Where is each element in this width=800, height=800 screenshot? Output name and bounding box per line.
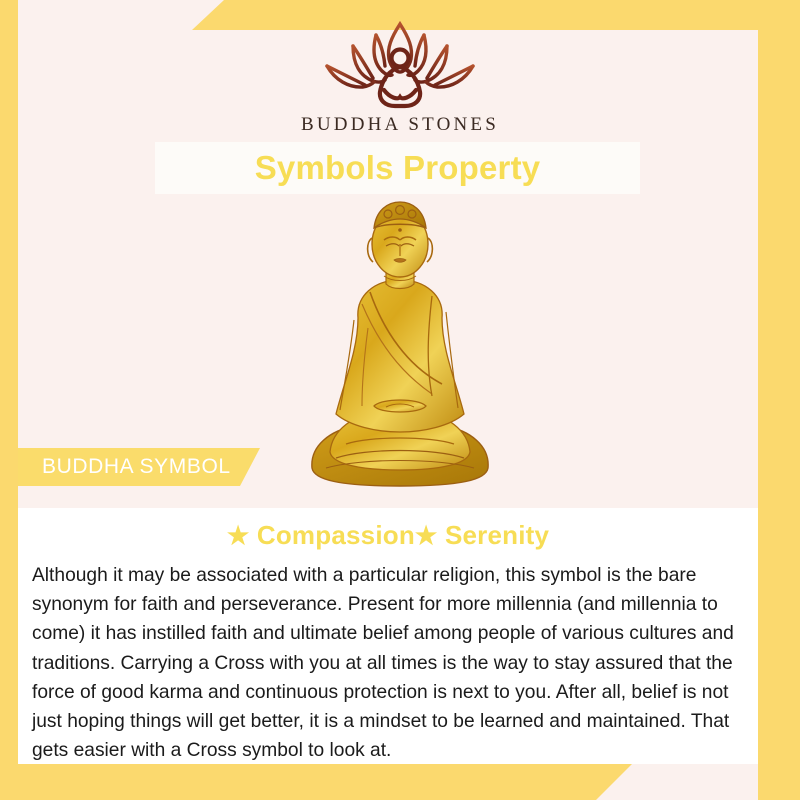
body-paragraph: Although it may be associated with a par… <box>32 561 746 765</box>
title-banner: Symbols Property <box>155 142 640 194</box>
poster-canvas: BUDDHA STONES Symbols Property <box>0 0 800 800</box>
star-icon-left: ★ <box>227 522 250 550</box>
brand-name: BUDDHA STONES <box>0 114 800 136</box>
section-tag-buddha-symbol: BUDDHA SYMBOL <box>18 448 260 486</box>
subtitle-line: ★ Compassion★ Serenity <box>18 520 758 551</box>
subtitle-word-serenity: Serenity <box>438 520 550 550</box>
content-panel: ★ Compassion★ Serenity Although it may b… <box>18 508 758 764</box>
brand-header: BUDDHA STONES <box>0 0 800 136</box>
seated-golden-buddha-statue-icon <box>300 200 500 490</box>
lotus-meditation-figure-icon <box>0 18 800 110</box>
bottom-accent-band <box>0 764 632 800</box>
section-tag-label: BUDDHA SYMBOL <box>42 455 231 479</box>
subtitle-word-compassion: Compassion <box>257 520 415 550</box>
page-title: Symbols Property <box>255 149 541 187</box>
star-icon-right: ★ <box>415 522 438 550</box>
